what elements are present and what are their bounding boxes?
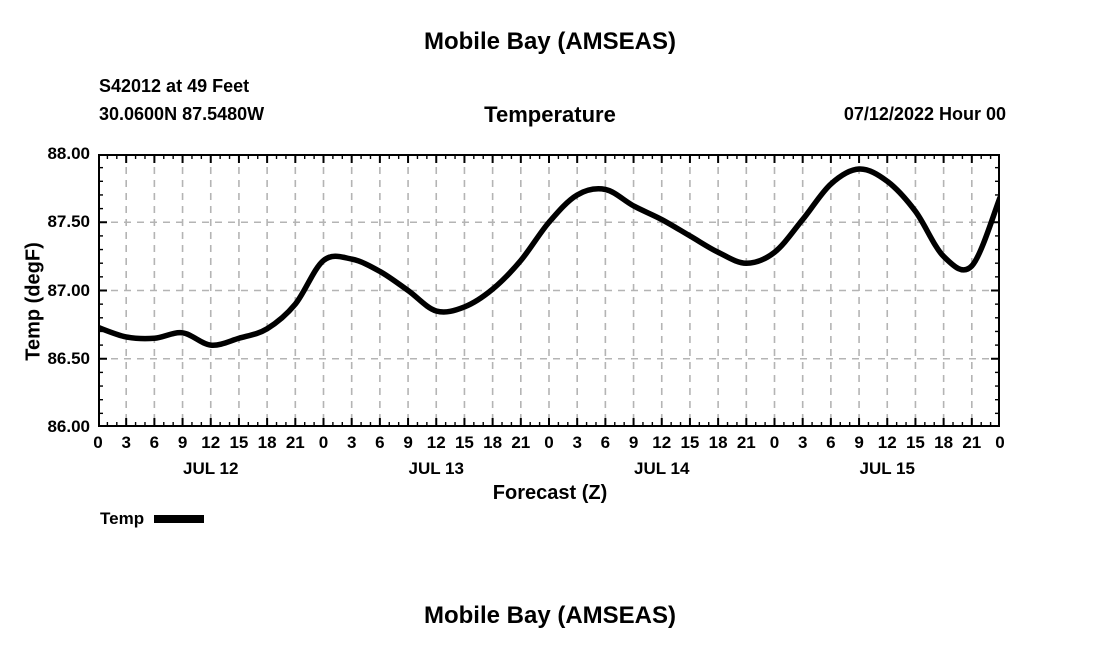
page-title: Mobile Bay (AMSEAS): [0, 28, 1100, 56]
x-tick-label: 18: [258, 433, 277, 453]
x-tick-label: 9: [178, 433, 187, 453]
x-axis-title: Forecast (Z): [0, 482, 1100, 505]
model-run-label: 07/12/2022 Hour 00: [844, 104, 1006, 125]
x-tick-label: 0: [93, 433, 102, 453]
x-tick-label: 3: [347, 433, 356, 453]
x-tick-label: 21: [511, 433, 530, 453]
x-axis-day-label: JUL 13: [409, 459, 464, 479]
x-tick-label: 21: [737, 433, 756, 453]
legend-label-temp: Temp: [100, 509, 144, 529]
x-tick-label: 9: [854, 433, 863, 453]
x-tick-label: 18: [483, 433, 502, 453]
x-tick-label: 6: [375, 433, 384, 453]
x-tick-label: 15: [455, 433, 474, 453]
x-tick-label: 3: [798, 433, 807, 453]
x-tick-label: 18: [934, 433, 953, 453]
x-tick-label: 9: [403, 433, 412, 453]
x-tick-label: 0: [544, 433, 553, 453]
station-id-label: S42012 at 49 Feet: [99, 76, 249, 97]
x-tick-label: 15: [229, 433, 248, 453]
plot-area: [98, 154, 1000, 427]
y-tick-label: 86.00: [47, 417, 90, 437]
x-tick-label: 21: [962, 433, 981, 453]
x-tick-label: 9: [629, 433, 638, 453]
x-axis-day-label: JUL 12: [183, 459, 238, 479]
x-tick-label: 15: [906, 433, 925, 453]
x-tick-label: 15: [680, 433, 699, 453]
x-tick-label: 0: [319, 433, 328, 453]
x-tick-label: 18: [709, 433, 728, 453]
y-tick-label: 86.50: [47, 349, 90, 369]
footer-title: Mobile Bay (AMSEAS): [0, 602, 1100, 630]
chart-legend: Temp: [100, 509, 204, 529]
x-axis-day-label: JUL 15: [860, 459, 915, 479]
x-tick-label: 21: [286, 433, 305, 453]
legend-swatch-temp: [154, 515, 204, 523]
x-tick-label: 6: [150, 433, 159, 453]
x-tick-label: 6: [826, 433, 835, 453]
y-axis-tick-labels: 88.0087.5087.0086.5086.00: [0, 0, 90, 650]
x-tick-label: 3: [121, 433, 130, 453]
x-tick-label: 12: [201, 433, 220, 453]
x-tick-label: 6: [601, 433, 610, 453]
x-tick-label: 12: [652, 433, 671, 453]
x-axis-day-label: JUL 14: [634, 459, 689, 479]
forecast-chart-figure: Mobile Bay (AMSEAS) S42012 at 49 Feet 30…: [0, 0, 1100, 650]
x-tick-label: 0: [995, 433, 1004, 453]
x-tick-label: 12: [427, 433, 446, 453]
chart-canvas: [98, 154, 1000, 427]
x-tick-label: 0: [770, 433, 779, 453]
y-tick-label: 88.00: [47, 144, 90, 164]
y-tick-label: 87.00: [47, 281, 90, 301]
x-tick-label: 12: [878, 433, 897, 453]
x-tick-label: 3: [572, 433, 581, 453]
y-tick-label: 87.50: [47, 212, 90, 232]
